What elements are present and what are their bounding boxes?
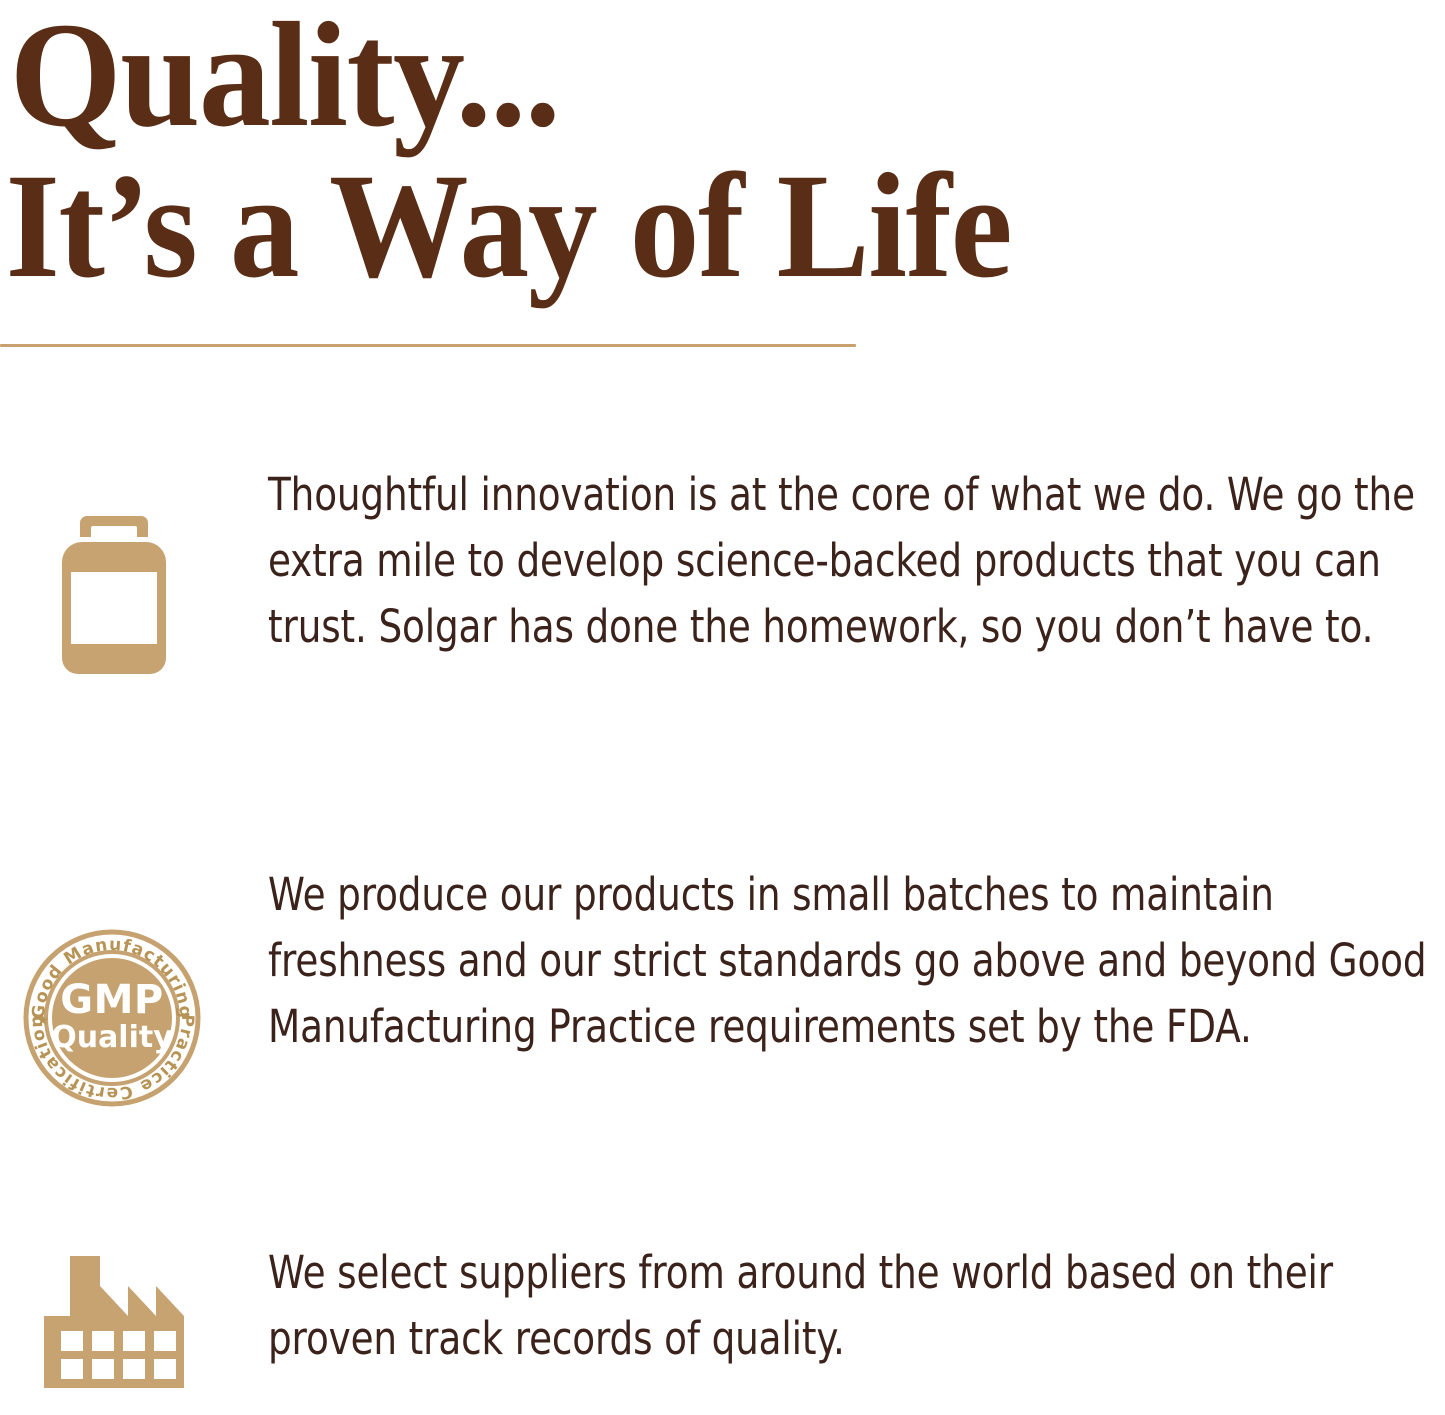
page-title-line-2: It’s a Way of Life <box>0 150 1116 302</box>
page-title: Quality... It’s a Way of Life <box>0 0 1200 302</box>
section-innovation: Thoughtful innovation is at the core of … <box>0 462 1445 660</box>
seal-center-line-2: Quality <box>51 1020 173 1055</box>
divider <box>0 344 856 347</box>
gmp-quality-seal-icon: Good Manufacturing Practice Certificatio… <box>22 928 202 1108</box>
text-column-suppliers: We select suppliers from around the worl… <box>268 1240 1445 1372</box>
section-suppliers: We select suppliers from around the worl… <box>0 1240 1445 1372</box>
factory-icon <box>44 1248 188 1394</box>
page-title-line-1: Quality... <box>0 0 1152 150</box>
text-column-batches: We produce our products in small batches… <box>268 862 1445 1060</box>
section-innovation-text: Thoughtful innovation is at the core of … <box>268 462 1438 660</box>
supplement-bottle-icon <box>62 514 166 676</box>
section-suppliers-text: We select suppliers from around the worl… <box>268 1240 1438 1372</box>
seal-star-icon: ★ <box>36 1011 49 1029</box>
seal-center-line-1: GMP <box>60 977 163 1023</box>
section-batches: Good Manufacturing Practice Certificatio… <box>0 862 1445 1060</box>
icon-column-batches: Good Manufacturing Practice Certificatio… <box>0 862 268 863</box>
section-batches-text: We produce our products in small batches… <box>268 862 1438 1060</box>
text-column-innovation: Thoughtful innovation is at the core of … <box>268 462 1445 660</box>
icon-column-innovation <box>0 462 268 463</box>
icon-column-suppliers <box>0 1240 268 1241</box>
